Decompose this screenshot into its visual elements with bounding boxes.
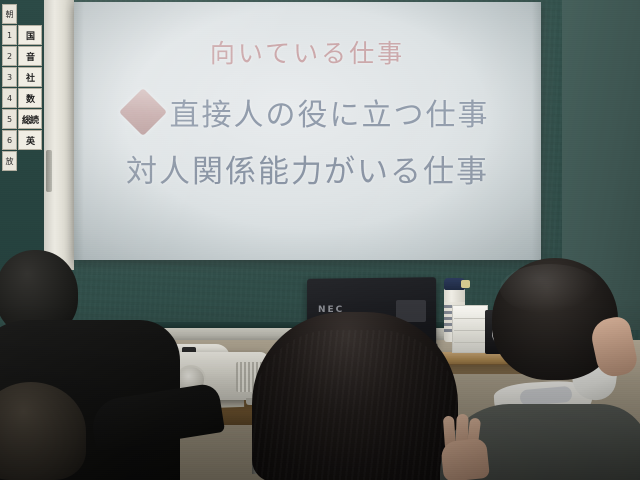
white-box-seam: [454, 342, 486, 343]
palm: [440, 438, 490, 480]
schedule-period: 1: [2, 25, 17, 45]
schedule-period: 2: [2, 46, 17, 66]
schedule-period: 朝: [2, 4, 17, 24]
student-center-hair-texture: [252, 330, 458, 480]
presentation-slide: 向いている仕事 直接人の役に立つ仕事 対人関係能力がいる仕事: [74, 2, 541, 260]
hand-shape: [588, 314, 639, 379]
schedule-row: 2 音: [2, 46, 42, 66]
schedule-row: 3 社: [2, 67, 42, 87]
slide-second-line: 対人関係能力がいる仕事: [74, 146, 541, 191]
water-bottle-tag: [461, 280, 470, 288]
schedule-subject: 総読: [18, 109, 42, 129]
schedule-period: 3: [2, 67, 17, 87]
schedule-row: 4 数: [2, 88, 42, 108]
schedule-subject: 音: [18, 46, 42, 66]
white-box: [452, 305, 488, 353]
classroom-photo: 朝 朝読書 1 国 2 音 3 社 4 数 5 総読 6 英 放: [0, 0, 640, 480]
schedule-period: 4: [2, 88, 17, 108]
screen-left-edge: [74, 2, 84, 260]
schedule-subject: 国: [18, 25, 42, 45]
class-schedule: 朝 朝読書 1 国 2 音 3 社 4 数 5 総読 6 英 放: [2, 4, 42, 172]
schedule-period: 放: [2, 151, 17, 171]
white-box-seam: [454, 318, 486, 319]
raised-hand: [434, 414, 496, 476]
screen-frame-strip: [44, 0, 74, 270]
schedule-row: 朝 朝読書: [2, 4, 42, 24]
schedule-subject: 数: [18, 88, 42, 108]
slide-bullet-row: 直接人の役に立つ仕事: [74, 90, 541, 134]
schedule-period: 6: [2, 130, 17, 150]
student-right-hair-highlight: [500, 264, 600, 314]
schedule-row: 5 総読: [2, 109, 42, 129]
projection-screen: 向いている仕事 直接人の役に立つ仕事 対人関係能力がいる仕事: [74, 2, 541, 260]
schedule-subject: 英: [18, 130, 42, 150]
screen-right-edge: [532, 2, 541, 260]
slide-bullet-text: 直接人の役に立つ仕事: [170, 90, 490, 134]
screen-clip: [46, 150, 52, 192]
diamond-bullet-icon: [118, 88, 166, 136]
schedule-period: 5: [2, 109, 17, 129]
schedule-subject: [18, 151, 42, 171]
slide-title: 向いている仕事: [74, 34, 541, 70]
student-right-hand: [594, 318, 638, 378]
schedule-subject: 社: [18, 67, 42, 87]
white-box-seam: [454, 330, 486, 331]
schedule-row: 1 国: [2, 25, 42, 45]
schedule-row: 放: [2, 151, 42, 171]
schedule-row: 6 英: [2, 130, 42, 150]
